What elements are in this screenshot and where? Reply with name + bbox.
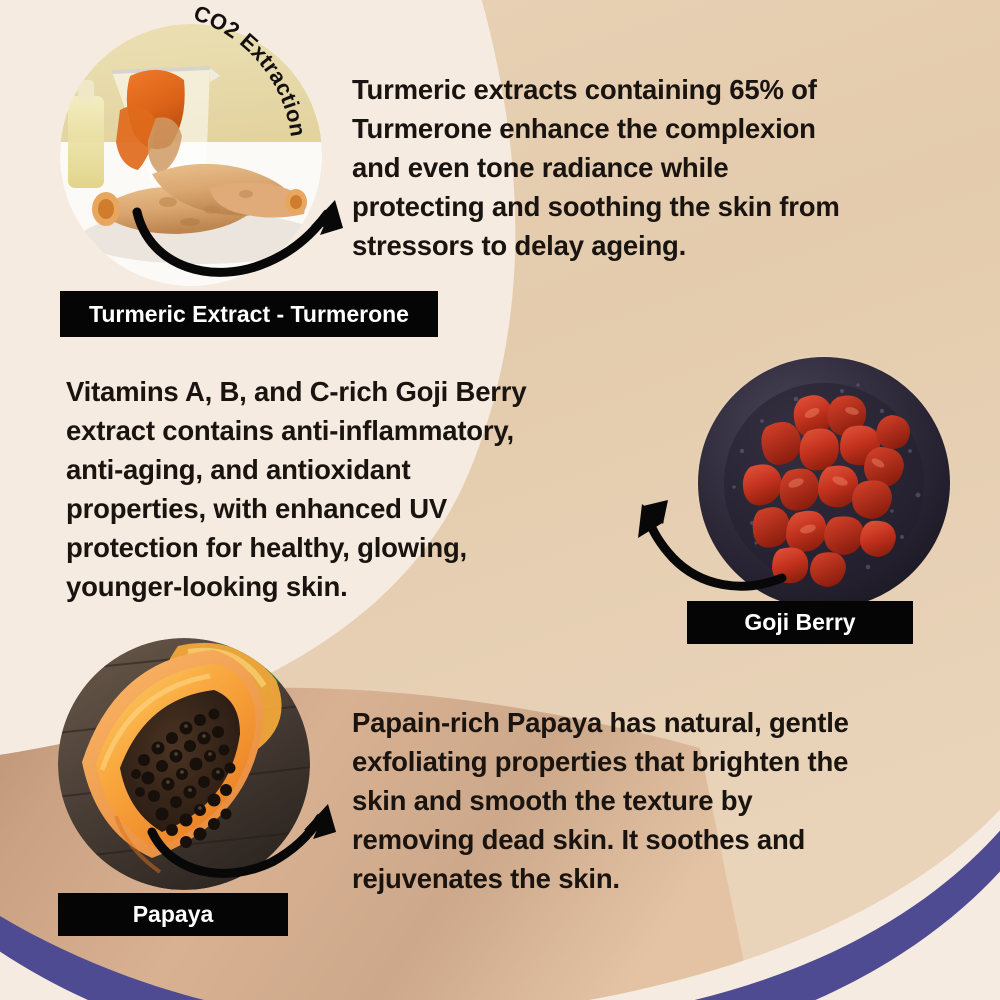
papaya-arrow-up-right xyxy=(152,804,336,873)
chip-papaya-label: Papaya xyxy=(133,901,214,928)
chip-papaya: Papaya xyxy=(58,893,288,936)
papaya-description: Papain-rich Papaya has natural, gentle e… xyxy=(352,703,962,898)
ingredient-infographic: CO2 Extraction Turmeric Extract - Turmer… xyxy=(0,0,1000,1000)
